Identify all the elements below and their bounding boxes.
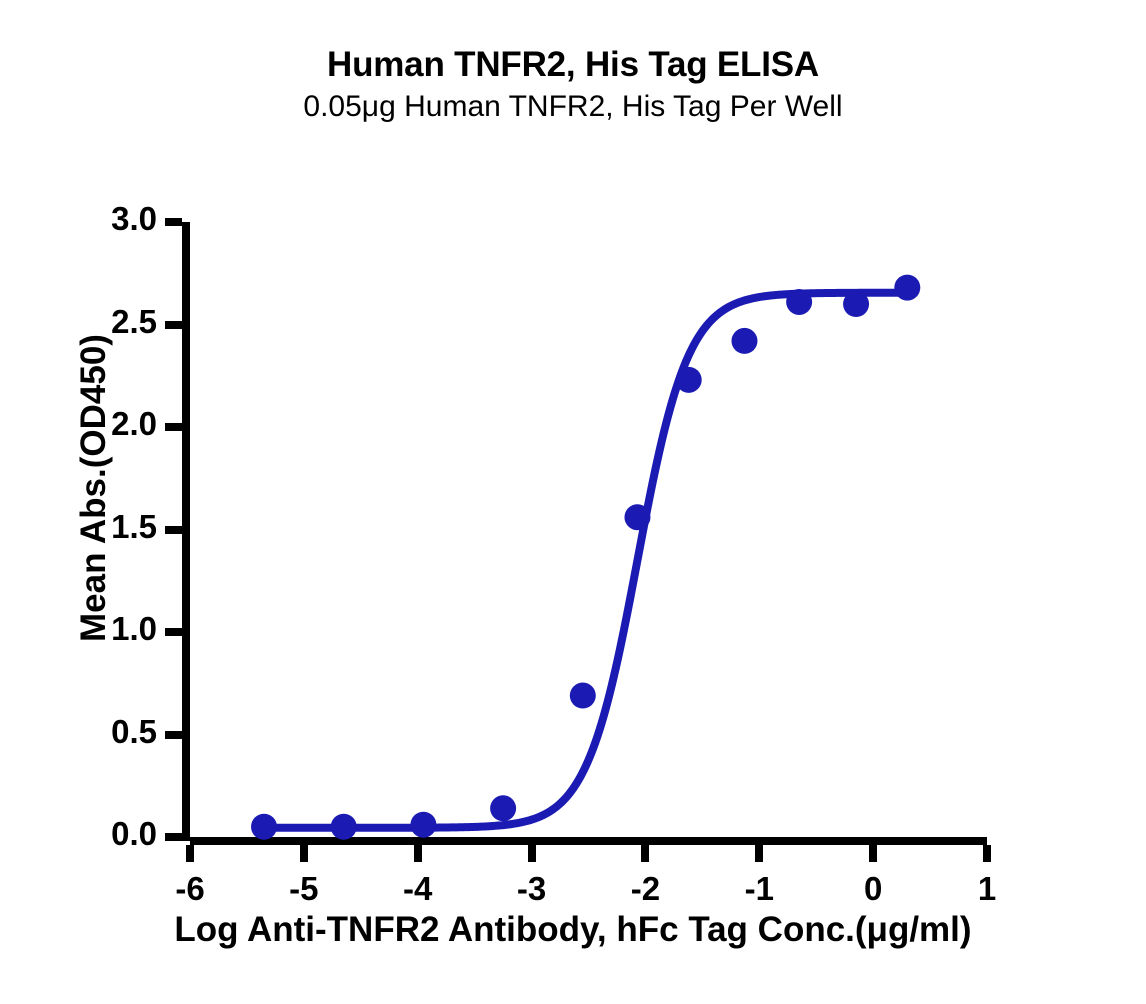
data-point (490, 795, 516, 821)
fit-curve-group (264, 293, 907, 828)
data-point (676, 367, 702, 393)
data-point (786, 289, 812, 315)
data-point (843, 291, 869, 317)
fit-curve (264, 293, 907, 828)
axes-group (165, 222, 987, 862)
plot-area (0, 0, 1146, 1004)
data-point (251, 814, 277, 840)
data-point (624, 504, 650, 530)
data-point (410, 812, 436, 838)
data-point (570, 683, 596, 709)
data-points-group (251, 275, 920, 840)
data-point (731, 328, 757, 354)
data-point (331, 814, 357, 840)
elisa-chart-figure: Human TNFR2, His Tag ELISA 0.05μg Human … (0, 0, 1146, 1004)
data-point (894, 275, 920, 301)
